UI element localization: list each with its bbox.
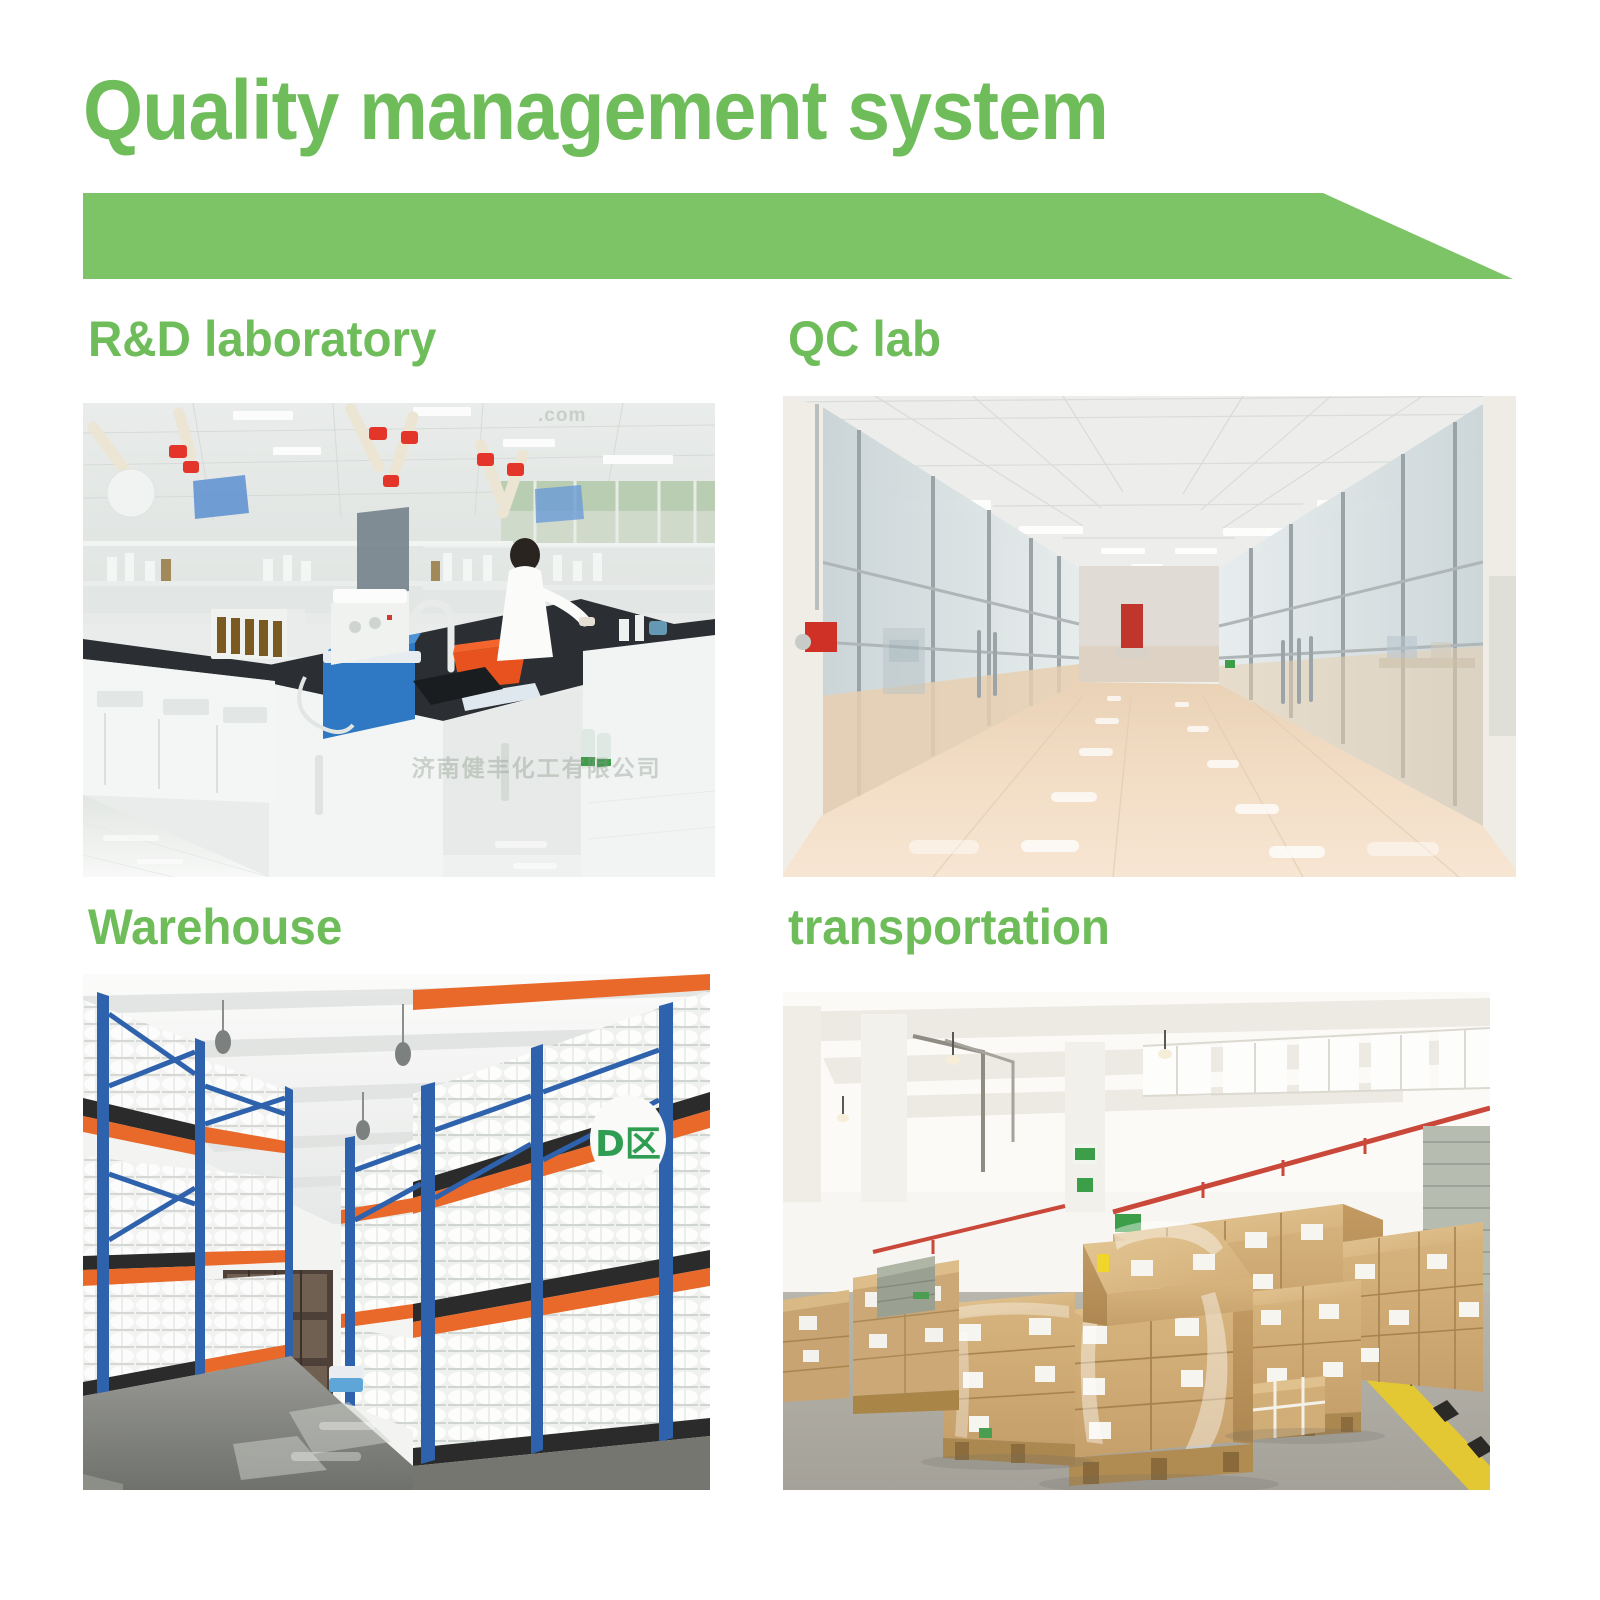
section-label-transportation: transportation <box>788 898 1110 956</box>
section-label-warehouse: Warehouse <box>88 898 342 956</box>
section-label-rd-laboratory: R&D laboratory <box>88 310 436 368</box>
green-chevron-banner <box>83 193 1513 279</box>
quality-management-system-page: Quality management system R&D laboratory… <box>0 0 1600 1600</box>
photo-transportation <box>783 992 1490 1490</box>
rd-laboratory-illustration <box>83 403 715 877</box>
svg-text:D区: D区 <box>595 1124 661 1165</box>
qc-lab-illustration <box>783 396 1516 877</box>
warehouse-illustration: D区 <box>83 974 710 1490</box>
photo-rd-laboratory: .com 济南健丰化工有限公司 <box>83 403 715 877</box>
transportation-illustration <box>783 992 1490 1490</box>
photo-warehouse: D区 <box>83 974 710 1490</box>
chevron-banner-shape <box>83 193 1513 279</box>
page-title: Quality management system <box>83 62 1108 158</box>
photo-qc-lab <box>783 396 1516 877</box>
warehouse-zone-sign: D区 <box>590 1095 666 1183</box>
section-label-qc-lab: QC lab <box>788 310 941 368</box>
